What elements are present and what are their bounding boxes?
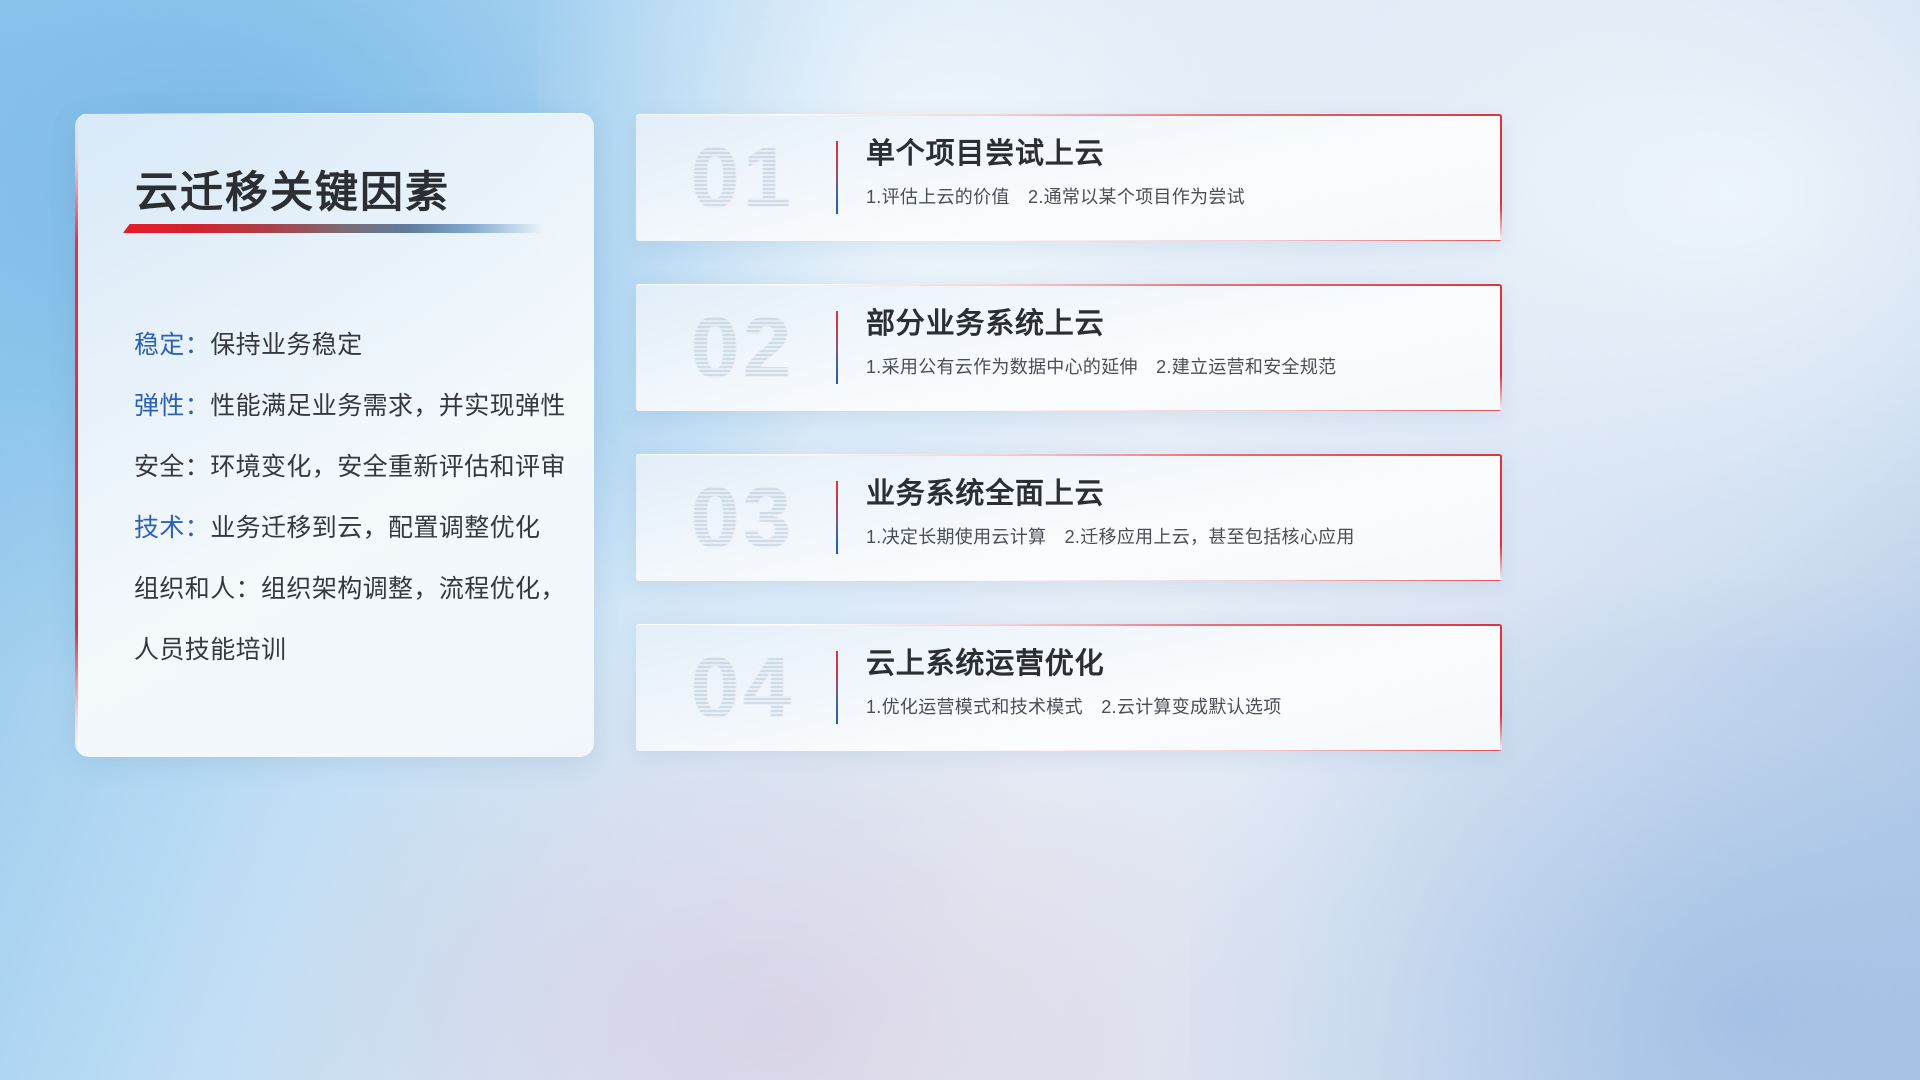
stage-subtitle: 1.决定长期使用云计算 2.迁移应用上云，甚至包括核心应用 [866, 524, 1478, 550]
page-title: 云迁移关键因素 [135, 158, 555, 220]
card-top-border [636, 284, 1502, 286]
stage-text-block: 单个项目尝试上云 1.评估上云的价值 2.通常以某个项目作为尝试 [866, 134, 1478, 210]
title-gradient-underline [123, 224, 543, 233]
factor-value: 性能满足业务需求，并实现弹性 [210, 392, 566, 420]
card-top-border [636, 624, 1502, 626]
stage-title: 云上系统运营优化 [866, 644, 1478, 685]
stage-divider-line [836, 481, 838, 554]
factor-item-technology: 技术：业务迁移到云，配置调整优化 [134, 498, 574, 559]
card-right-border [1500, 624, 1502, 751]
card-bottom-border [965, 580, 1502, 581]
card-bottom-border [965, 410, 1502, 411]
stage-text-block: 业务系统全面上云 1.决定长期使用云计算 2.迁移应用上云，甚至包括核心应用 [866, 474, 1478, 550]
factor-item-organization-continued: 人员技能培训 [134, 620, 574, 681]
stage-number: 04 [658, 638, 828, 738]
card-right-border [1500, 114, 1502, 241]
stage-text-block: 部分业务系统上云 1.采用公有云作为数据中心的延伸 2.建立运营和安全规范 [866, 304, 1478, 380]
stage-divider-line [836, 651, 838, 724]
stage-subtitle: 1.采用公有云作为数据中心的延伸 2.建立运营和安全规范 [866, 354, 1478, 380]
stage-subtitle: 1.优化运营模式和技术模式 2.云计算变成默认选项 [866, 694, 1478, 720]
card-bottom-border [965, 240, 1502, 241]
stage-number: 01 [658, 128, 828, 228]
factor-item-organization: 组织和人：组织架构调整，流程优化， [134, 559, 574, 620]
stage-card-02[interactable]: 02 部分业务系统上云 1.采用公有云作为数据中心的延伸 2.建立运营和安全规范 [636, 284, 1502, 411]
stage-number: 03 [658, 468, 828, 568]
key-factors-panel: 云迁移关键因素 稳定：保持业务稳定 弹性：性能满足业务需求，并实现弹性 安全：环… [75, 113, 594, 757]
stage-card-04[interactable]: 04 云上系统运营优化 1.优化运营模式和技术模式 2.云计算变成默认选项 [636, 624, 1502, 751]
stage-card-03[interactable]: 03 业务系统全面上云 1.决定长期使用云计算 2.迁移应用上云，甚至包括核心应… [636, 454, 1502, 581]
factor-label: 弹性： [134, 392, 210, 420]
factor-label: 组织和人： [134, 575, 261, 603]
stage-subtitle: 1.评估上云的价值 2.通常以某个项目作为尝试 [866, 184, 1478, 210]
migration-stage-list: 01 单个项目尝试上云 1.评估上云的价值 2.通常以某个项目作为尝试 02 部… [636, 114, 1502, 794]
stage-title: 部分业务系统上云 [866, 304, 1478, 345]
factor-item-stability: 稳定：保持业务稳定 [134, 315, 574, 376]
factor-list: 稳定：保持业务稳定 弹性：性能满足业务需求，并实现弹性 安全：环境变化，安全重新… [134, 315, 574, 681]
card-right-border [1500, 454, 1502, 581]
factor-value: 保持业务稳定 [210, 331, 362, 359]
factor-value: 业务迁移到云，配置调整优化 [210, 514, 540, 542]
stage-number: 02 [658, 298, 828, 398]
panel-top-highlight [75, 113, 594, 114]
stage-divider-line [836, 141, 838, 214]
factor-item-security: 安全：环境变化，安全重新评估和评审 [134, 437, 574, 498]
card-bottom-border [965, 750, 1502, 751]
factor-label: 技术： [134, 514, 210, 542]
factor-item-elasticity: 弹性：性能满足业务需求，并实现弹性 [134, 376, 574, 437]
stage-text-block: 云上系统运营优化 1.优化运营模式和技术模式 2.云计算变成默认选项 [866, 644, 1478, 720]
stage-card-01[interactable]: 01 单个项目尝试上云 1.评估上云的价值 2.通常以某个项目作为尝试 [636, 114, 1502, 241]
card-top-border [636, 454, 1502, 456]
slide-stage: 云迁移关键因素 稳定：保持业务稳定 弹性：性能满足业务需求，并实现弹性 安全：环… [0, 0, 1920, 1080]
panel-red-accent-bar [75, 113, 78, 757]
factor-label: 稳定： [134, 331, 210, 359]
factor-label: 安全： [134, 453, 210, 481]
factor-value: 环境变化，安全重新评估和评审 [210, 453, 566, 481]
factor-value: 组织架构调整，流程优化， [261, 575, 566, 603]
card-right-border [1500, 284, 1502, 411]
stage-title: 业务系统全面上云 [866, 474, 1478, 515]
card-top-border [636, 114, 1502, 116]
stage-divider-line [836, 311, 838, 384]
stage-title: 单个项目尝试上云 [866, 134, 1478, 175]
